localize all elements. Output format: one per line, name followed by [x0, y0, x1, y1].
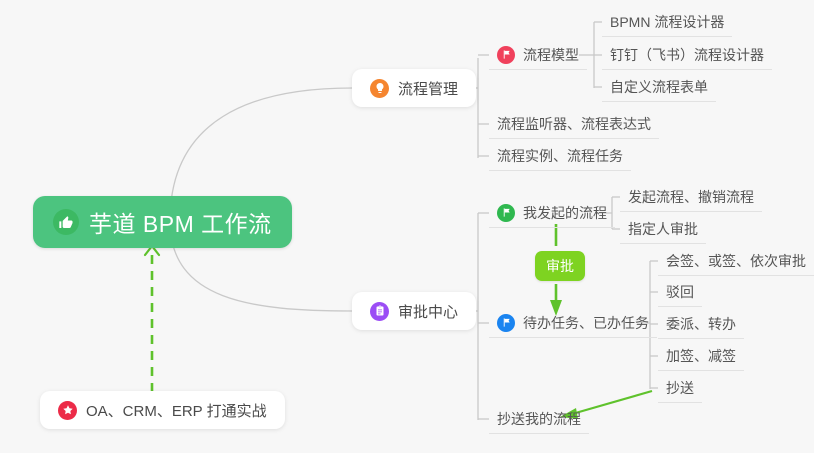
branch-label: 流程管理 — [398, 78, 458, 99]
branch-approval-center[interactable]: 审批中心 — [352, 292, 476, 330]
root-node[interactable]: 芋道 BPM 工作流 — [33, 196, 292, 248]
node-label: 自定义流程表单 — [610, 80, 708, 94]
node-label: 流程监听器、流程表达式 — [497, 117, 651, 131]
node-reject[interactable]: 驳回 — [658, 277, 702, 307]
node-countersign[interactable]: 会签、或签、依次审批 — [658, 246, 814, 276]
root-label: 芋道 BPM 工作流 — [89, 205, 272, 239]
branch-label: 审批中心 — [398, 301, 458, 322]
node-bpmn-designer[interactable]: BPMN 流程设计器 — [602, 7, 732, 37]
flag-icon — [497, 46, 515, 64]
star-icon — [58, 401, 77, 420]
node-label: 我发起的流程 — [523, 206, 607, 220]
node-label: 委派、转办 — [666, 317, 736, 331]
approval-badge[interactable]: 审批 — [535, 251, 585, 281]
node-start-cancel[interactable]: 发起流程、撤销流程 — [620, 182, 762, 212]
node-label: 驳回 — [666, 285, 694, 299]
node-label: 钉钉（飞书）流程设计器 — [610, 48, 764, 62]
badge-label: 审批 — [546, 256, 574, 276]
node-my-initiated[interactable]: 我发起的流程 — [489, 198, 615, 228]
node-assignee-approval[interactable]: 指定人审批 — [620, 214, 706, 244]
node-custom-process-form[interactable]: 自定义流程表单 — [602, 72, 716, 102]
clipboard-icon — [370, 302, 389, 321]
lightbulb-icon — [370, 79, 389, 98]
node-dingtalk-feishu-designer[interactable]: 钉钉（飞书）流程设计器 — [602, 40, 772, 70]
node-label: 会签、或签、依次审批 — [666, 254, 806, 268]
side-node-integration[interactable]: OA、CRM、ERP 打通实战 — [40, 391, 285, 429]
thumbs-up-icon — [53, 209, 79, 235]
node-label: 加签、减签 — [666, 349, 736, 363]
flag-icon — [497, 204, 515, 222]
node-label: 指定人审批 — [628, 222, 698, 236]
node-instance-task[interactable]: 流程实例、流程任务 — [489, 141, 631, 171]
node-label: 流程实例、流程任务 — [497, 149, 623, 163]
node-label: 待办任务、已办任务 — [523, 316, 649, 330]
node-todo-done[interactable]: 待办任务、已办任务 — [489, 308, 657, 338]
branch-process-management[interactable]: 流程管理 — [352, 69, 476, 107]
node-label: 发起流程、撤销流程 — [628, 190, 754, 204]
node-cc[interactable]: 抄送 — [658, 373, 702, 403]
node-process-model[interactable]: 流程模型 — [489, 40, 587, 70]
flag-icon — [497, 314, 515, 332]
node-label: 抄送我的流程 — [497, 412, 581, 426]
node-add-remove-sign[interactable]: 加签、减签 — [658, 341, 744, 371]
dashed-arrow-root — [145, 246, 159, 392]
node-label: 流程模型 — [523, 48, 579, 62]
node-label: 抄送 — [666, 381, 694, 395]
node-cc-to-me[interactable]: 抄送我的流程 — [489, 404, 589, 434]
mindmap-canvas: 芋道 BPM 工作流 流程管理 流程模型 BPMN 流程设计器 钉钉（飞书）流程… — [0, 0, 814, 453]
node-delegate-transfer[interactable]: 委派、转办 — [658, 309, 744, 339]
side-node-label: OA、CRM、ERP 打通实战 — [86, 400, 267, 421]
node-label: BPMN 流程设计器 — [610, 15, 724, 29]
node-listener-expression[interactable]: 流程监听器、流程表达式 — [489, 109, 659, 139]
